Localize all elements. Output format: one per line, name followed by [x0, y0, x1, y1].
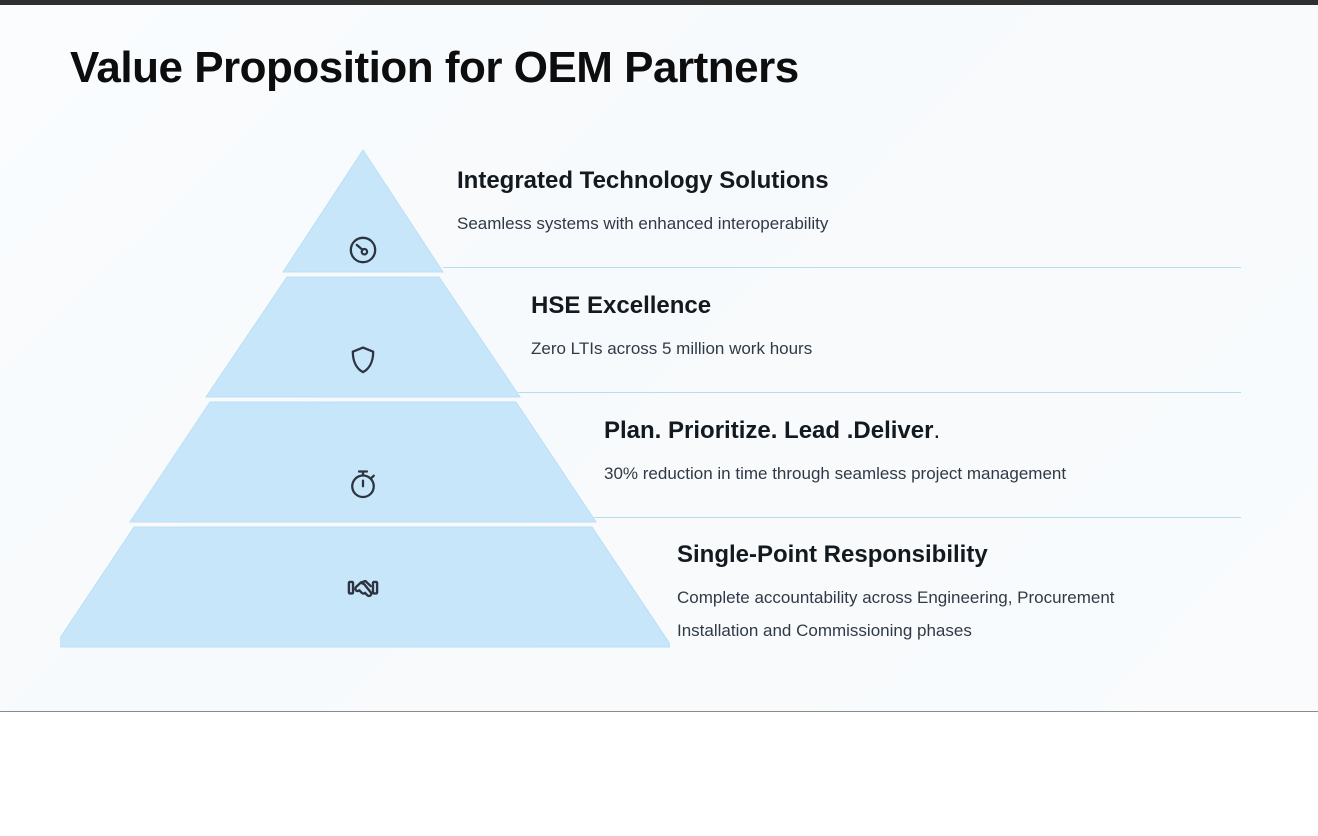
- pyramid-tier-2-shape: [206, 277, 520, 397]
- tier-heading-4: Single-Point Responsibility: [677, 542, 1247, 568]
- page-title: Value Proposition for OEM Partners: [70, 43, 799, 93]
- shield-icon: [346, 343, 380, 377]
- tier-content-1: Integrated Technology Solutions Seamless…: [457, 168, 1247, 241]
- gauge-icon: [346, 233, 380, 267]
- handshake-icon: [344, 569, 382, 607]
- tier-description-4: Complete accountability across Engineeri…: [677, 582, 1247, 614]
- tier-divider-3: [594, 517, 1241, 518]
- tier-description-2: Zero LTIs across 5 million work hours: [531, 333, 1247, 365]
- tier-description-4-line2: Installation and Commissioning phases: [677, 615, 1247, 647]
- tier-content-3: Plan. Prioritize. Lead .Deliver. 30% red…: [604, 418, 1247, 491]
- tier-heading-1: Integrated Technology Solutions: [457, 168, 1247, 194]
- tier-divider-2: [518, 392, 1241, 393]
- slide-viewer: Value Proposition for OEM Partners: [0, 0, 1318, 836]
- stopwatch-icon: [346, 467, 380, 501]
- tier-heading-2: HSE Excellence: [531, 293, 1247, 319]
- tier-heading-3-tail: .: [933, 417, 940, 444]
- tier-content-4: Single-Point Responsibility Complete acc…: [677, 542, 1247, 647]
- tier-content-2: HSE Excellence Zero LTIs across 5 millio…: [531, 293, 1247, 366]
- tier-heading-3-main: Plan. Prioritize. Lead .Deliver: [604, 417, 933, 444]
- tier-heading-3: Plan. Prioritize. Lead .Deliver.: [604, 418, 1247, 444]
- presentation-slide: Value Proposition for OEM Partners: [0, 5, 1318, 712]
- pyramid-tier-3-shape: [130, 402, 596, 522]
- tier-description-1: Seamless systems with enhanced interoper…: [457, 208, 1247, 240]
- tier-divider-1: [443, 267, 1241, 268]
- tier-description-3: 30% reduction in time through seamless p…: [604, 458, 1247, 490]
